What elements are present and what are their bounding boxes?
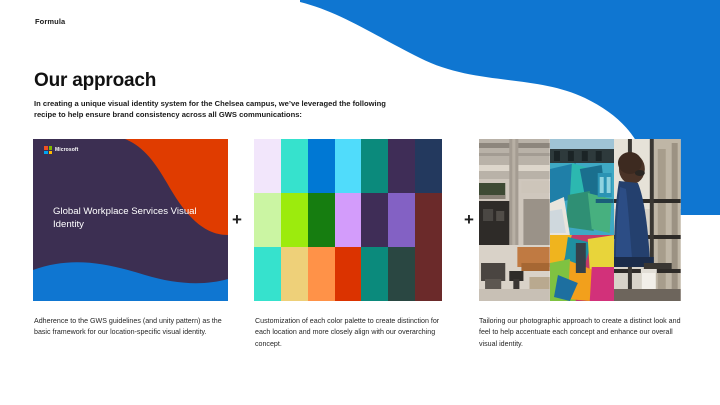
color-swatch (415, 139, 442, 193)
color-swatch (388, 139, 415, 193)
page-subtitle: In creating a unique visual identity sys… (34, 98, 406, 120)
plus-operator-1: + (232, 211, 242, 228)
color-swatch (308, 193, 335, 247)
color-swatch (254, 139, 281, 193)
color-swatch (415, 193, 442, 247)
photo-street-art-mural (550, 139, 615, 301)
caption-panel-2: Customization of each color palette to c… (255, 316, 451, 350)
eyebrow-label: Formula (35, 17, 65, 26)
photo-office-lounge-interior (479, 139, 550, 301)
color-swatch (281, 139, 308, 193)
color-swatch (308, 247, 335, 301)
microsoft-logo-squares-icon (44, 146, 52, 154)
color-swatch (281, 247, 308, 301)
photo-person-working-outdoors (614, 139, 681, 301)
color-swatch (415, 247, 442, 301)
color-swatch (254, 247, 281, 301)
color-swatch (361, 247, 388, 301)
color-swatch (335, 139, 362, 193)
color-swatch (361, 139, 388, 193)
panel-photography-triptych[interactable] (479, 139, 681, 301)
color-swatch (388, 193, 415, 247)
caption-panel-1: Adherence to the GWS guidelines (and uni… (34, 316, 230, 339)
panel-gws-title-slide[interactable]: Microsoft Global Workplace Services Visu… (33, 139, 228, 301)
color-swatch (308, 139, 335, 193)
photo-strip (479, 139, 681, 301)
color-swatch (281, 193, 308, 247)
microsoft-logo-text: Microsoft (55, 147, 78, 153)
color-swatch-grid (254, 139, 442, 301)
color-swatch (335, 247, 362, 301)
color-swatch (361, 193, 388, 247)
page-title: Our approach (34, 70, 156, 92)
color-swatch (335, 193, 362, 247)
microsoft-logo: Microsoft (44, 146, 78, 154)
slide-heading: Global Workplace Services Visual Identit… (53, 205, 213, 231)
plus-operator-2: + (464, 211, 474, 228)
color-swatch (254, 193, 281, 247)
color-swatch (388, 247, 415, 301)
caption-panel-3: Tailoring our photographic approach to c… (479, 316, 684, 350)
panel-color-palette-grid[interactable] (254, 139, 442, 301)
